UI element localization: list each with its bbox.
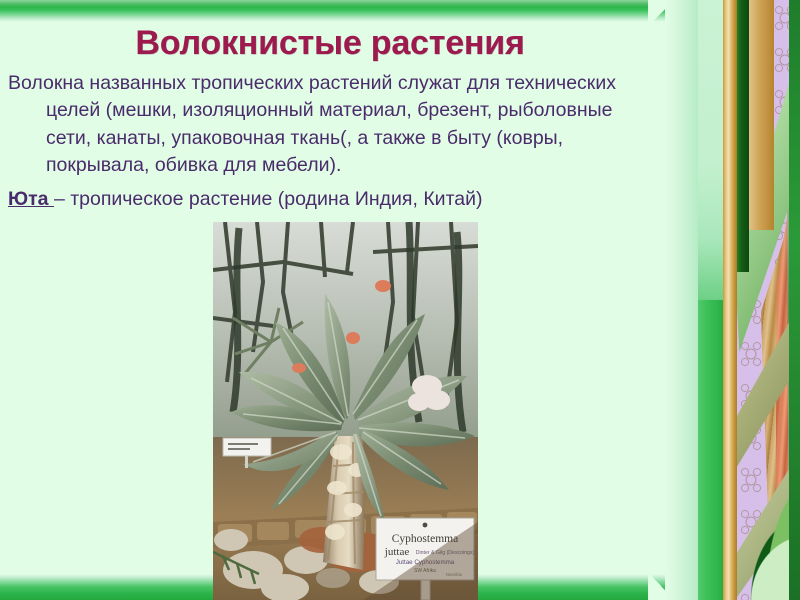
right-decorative-border	[665, 0, 800, 600]
slide-title: Волокнистые растения	[0, 26, 660, 62]
slide: Волокнистые растения Волокна названных т…	[0, 0, 800, 600]
border-edge-green-strip	[789, 0, 800, 600]
body-paragraph-2-text: – тропическое растение (родина Индия, Ки…	[54, 188, 483, 210]
photo-artwork: Cyphostemma juttae Dinter & Gilg (Descoi…	[213, 222, 478, 600]
svg-text:juttae: juttae	[384, 546, 410, 558]
plant-photograph: Cyphostemma juttae Dinter & Gilg (Descoi…	[213, 222, 478, 600]
body-paragraph-1: Волокна названных тропических растений с…	[8, 70, 658, 180]
body-paragraph-2: Юта – тропическое растение (родина Индия…	[8, 186, 658, 213]
border-pale-green-column	[665, 0, 699, 600]
slide-body: Волокна названных тропических растений с…	[8, 70, 658, 219]
border-gold-stripe	[723, 0, 737, 600]
border-tan-band-top	[748, 0, 774, 230]
keyword-yuta: Юта	[8, 188, 54, 210]
border-green-band-top	[698, 0, 724, 300]
